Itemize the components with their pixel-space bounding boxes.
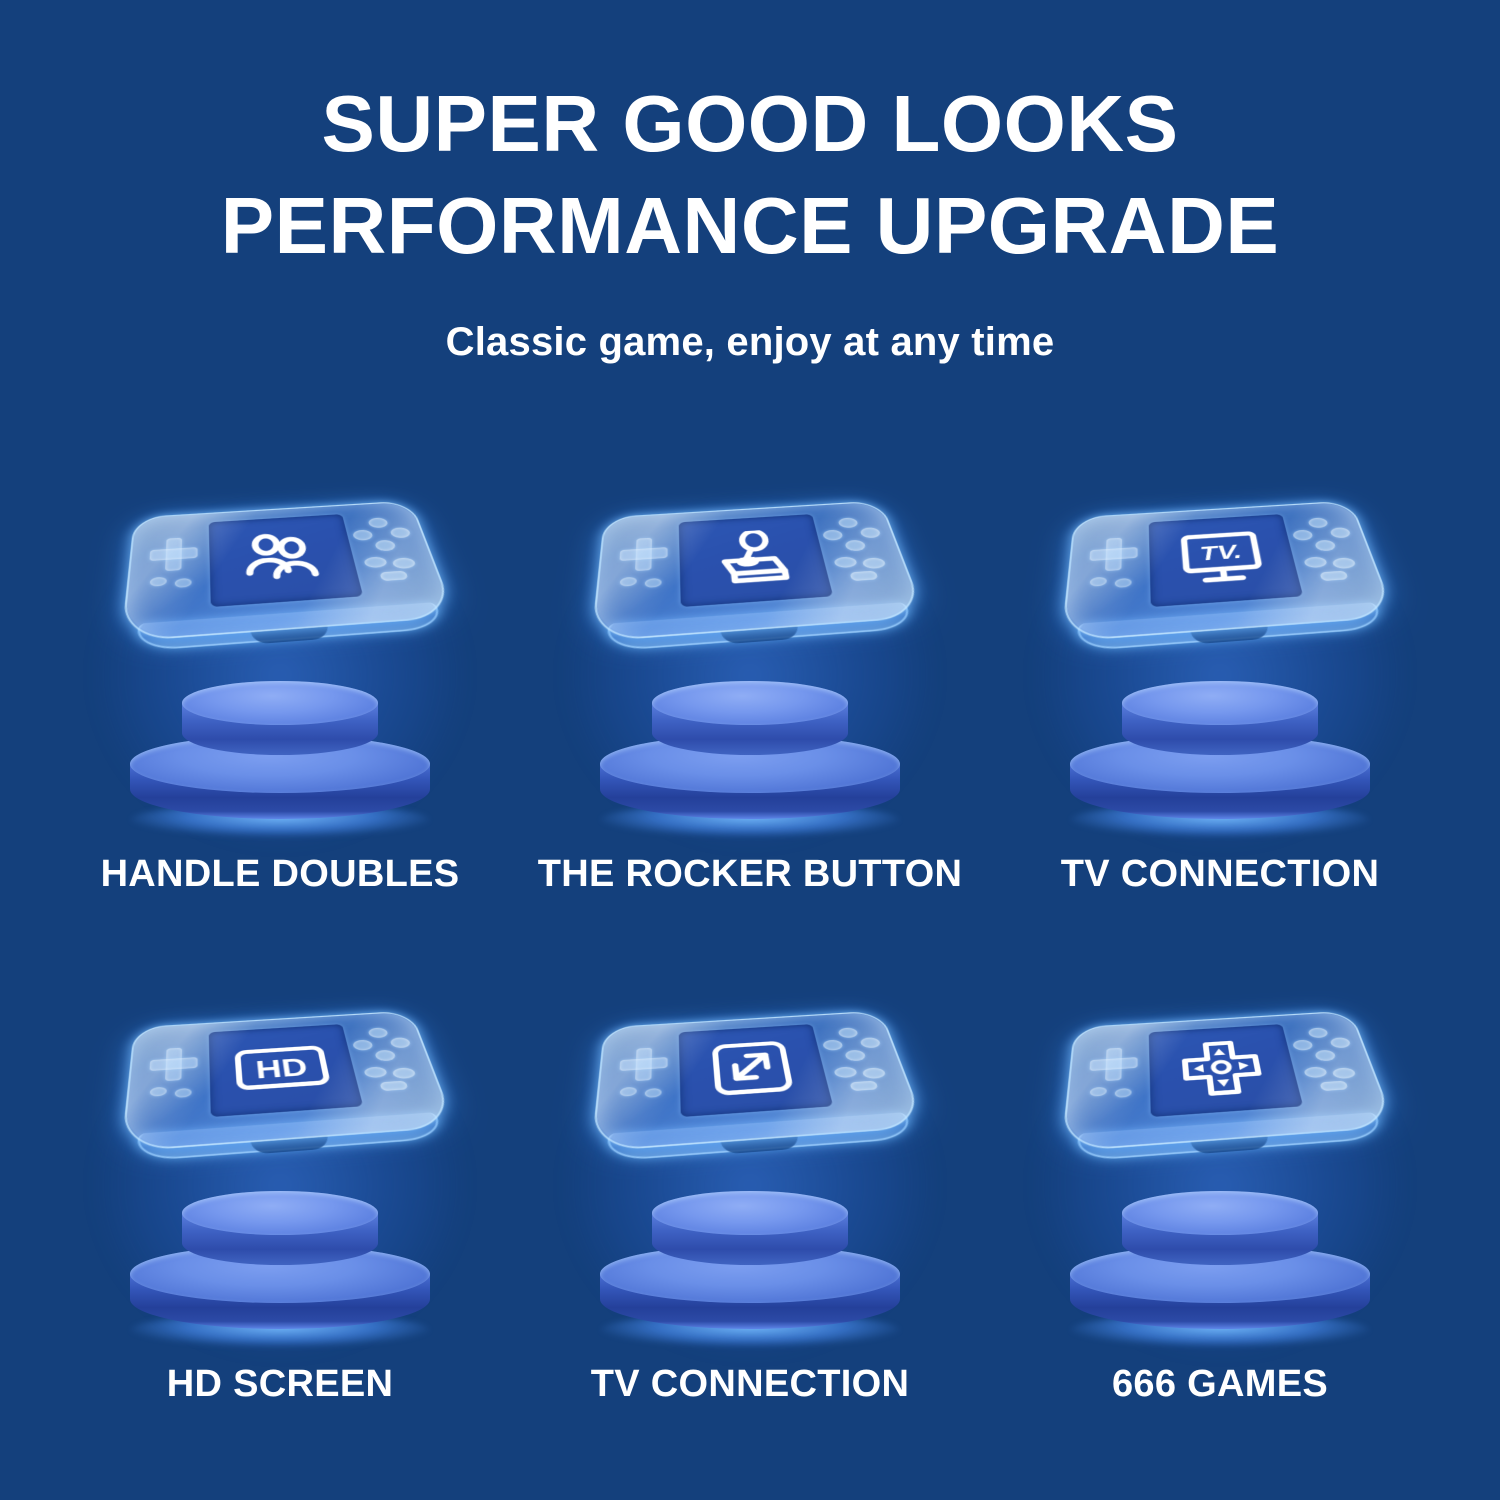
- device-stage: [580, 470, 920, 845]
- feature-item-tv-connection-bottom: TV CONNECTION: [515, 980, 985, 1490]
- feature-label: TV CONNECTION: [591, 1361, 909, 1407]
- action-button-b: [861, 557, 886, 569]
- device-stage: TV.: [1050, 470, 1390, 845]
- action-button-left: [1292, 1039, 1314, 1050]
- pedestal: [1070, 681, 1370, 831]
- handheld-console: HD: [121, 1011, 450, 1149]
- action-button-b: [391, 557, 416, 569]
- pedestal-riser-top: [652, 1191, 848, 1235]
- action-button-b: [1331, 557, 1356, 569]
- feature-label: THE ROCKER BUTTON: [538, 851, 963, 897]
- console-screen: HD: [209, 1024, 364, 1117]
- action-button-up: [367, 1027, 389, 1038]
- action-button-cluster: [1287, 515, 1369, 588]
- action-button-a: [833, 1066, 858, 1078]
- action-button-b: [861, 1067, 886, 1079]
- select-button: [620, 577, 637, 587]
- action-button-up: [367, 517, 389, 528]
- action-button-down: [1314, 1050, 1336, 1062]
- pedestal-riser: [1122, 1191, 1318, 1283]
- dpad-horizontal-bar: [149, 1057, 197, 1071]
- action-button-extra: [850, 571, 879, 581]
- action-button-cluster: [347, 1025, 429, 1098]
- action-button-extra: [850, 1081, 879, 1091]
- headline-line-1: SUPER GOOD LOOKS: [0, 0, 1500, 174]
- headline-line-2: PERFORMANCE UPGRADE: [0, 174, 1500, 276]
- action-button-extra: [380, 571, 409, 581]
- action-button-right: [389, 527, 411, 538]
- action-button-cluster: [817, 515, 899, 588]
- action-button-cluster: [1287, 1025, 1369, 1098]
- select-button: [1090, 1087, 1107, 1097]
- select-button: [1090, 577, 1107, 587]
- dpad-cluster: [1082, 1040, 1144, 1111]
- action-button-right: [859, 527, 881, 538]
- feature-label: HANDLE DOUBLES: [101, 851, 460, 897]
- action-button-down: [374, 540, 396, 552]
- action-button-a: [1303, 1066, 1328, 1078]
- poster-subtitle: Classic game, enjoy at any time: [0, 276, 1500, 366]
- action-button-cluster: [817, 1025, 899, 1098]
- device-stage: [1050, 980, 1390, 1355]
- action-button-up: [837, 1027, 859, 1038]
- pedestal-riser-top: [652, 681, 848, 725]
- feature-item-the-rocker-button: THE ROCKER BUTTON: [515, 470, 985, 980]
- handheld-console: TV.: [1061, 501, 1390, 639]
- dpad-cluster: [612, 530, 674, 601]
- action-button-extra: [1320, 571, 1349, 581]
- select-button: [620, 1087, 637, 1097]
- console-wrapper: [600, 478, 900, 668]
- pedestal-riser: [182, 1191, 378, 1283]
- pedestal-riser-top: [182, 1191, 378, 1235]
- pedestal-riser-top: [1122, 681, 1318, 725]
- feature-label: TV CONNECTION: [1061, 851, 1379, 897]
- action-button-a: [363, 556, 388, 568]
- action-button-a: [833, 556, 858, 568]
- handheld-console: [1061, 1011, 1390, 1149]
- action-button-down: [1314, 540, 1336, 552]
- action-button-left: [822, 529, 844, 540]
- action-button-left: [352, 1039, 374, 1050]
- dpad-cluster: [612, 1040, 674, 1111]
- pedestal-riser: [652, 1191, 848, 1283]
- pedestal-riser: [652, 681, 848, 773]
- action-button-a: [1303, 556, 1328, 568]
- svg-text:HD: HD: [254, 1054, 309, 1085]
- two-people-icon: [237, 530, 329, 586]
- start-button: [1115, 578, 1132, 588]
- handheld-console: [121, 501, 450, 639]
- joystick-icon: [711, 529, 796, 589]
- pedestal: [130, 1191, 430, 1341]
- poster-header: SUPER GOOD LOOKS PERFORMANCE UPGRADE Cla…: [0, 0, 1500, 366]
- pedestal: [1070, 1191, 1370, 1341]
- start-button: [645, 578, 662, 588]
- start-button: [1115, 1088, 1132, 1098]
- action-button-up: [1307, 517, 1329, 528]
- feature-grid: HANDLE DOUBLES: [0, 470, 1500, 1490]
- dpad-icon: [1176, 1037, 1271, 1100]
- dpad-horizontal-bar: [1089, 1057, 1137, 1071]
- handheld-console: [591, 501, 920, 639]
- action-button-b: [391, 1067, 416, 1079]
- pedestal-riser-top: [182, 681, 378, 725]
- select-button: [150, 1087, 167, 1097]
- action-button-a: [363, 1066, 388, 1078]
- action-button-left: [822, 1039, 844, 1050]
- action-button-down: [844, 1050, 866, 1062]
- dpad-cluster: [142, 1040, 204, 1111]
- action-button-left: [352, 529, 374, 540]
- console-wrapper: HD: [130, 988, 430, 1178]
- handheld-console: [591, 1011, 920, 1149]
- device-stage: HD: [110, 980, 450, 1355]
- console-wrapper: [600, 988, 900, 1178]
- device-stage: [580, 980, 920, 1355]
- feature-label: HD SCREEN: [167, 1361, 394, 1407]
- action-button-right: [1329, 1037, 1351, 1048]
- console-screen: [1149, 1024, 1304, 1117]
- console-screen: [679, 514, 834, 607]
- action-button-left: [1292, 529, 1314, 540]
- device-stage: [110, 470, 450, 845]
- pedestal: [600, 1191, 900, 1341]
- dpad-cluster: [142, 530, 204, 601]
- action-button-down: [374, 1050, 396, 1062]
- dpad-horizontal-bar: [149, 547, 197, 561]
- dpad-horizontal-bar: [619, 547, 667, 561]
- dpad-horizontal-bar: [619, 1057, 667, 1071]
- hd-badge-icon: HD: [232, 1044, 333, 1093]
- console-wrapper: [130, 478, 430, 668]
- pedestal: [600, 681, 900, 831]
- pedestal-riser-top: [1122, 1191, 1318, 1235]
- feature-label: 666 GAMES: [1112, 1361, 1328, 1407]
- pedestal: [130, 681, 430, 831]
- action-button-down: [844, 540, 866, 552]
- start-button: [175, 578, 192, 588]
- console-wrapper: [1070, 988, 1370, 1178]
- dpad-cluster: [1082, 530, 1144, 601]
- start-button: [645, 1088, 662, 1098]
- console-screen: TV.: [1149, 514, 1304, 607]
- feature-item-handle-doubles: HANDLE DOUBLES: [45, 470, 515, 980]
- feature-item-hd-screen: HD: [45, 980, 515, 1490]
- action-button-right: [389, 1037, 411, 1048]
- action-button-b: [1331, 1067, 1356, 1079]
- tv-monitor-icon: TV.: [1176, 529, 1271, 588]
- dpad-horizontal-bar: [1089, 547, 1137, 561]
- product-feature-poster: SUPER GOOD LOOKS PERFORMANCE UPGRADE Cla…: [0, 0, 1500, 1500]
- action-button-cluster: [347, 515, 429, 588]
- feature-row-bottom: HD: [0, 980, 1500, 1490]
- expand-arrows-icon: [709, 1039, 798, 1099]
- pedestal-riser: [182, 681, 378, 773]
- feature-item-tv-connection-top: TV.: [985, 470, 1455, 980]
- start-button: [175, 1088, 192, 1098]
- svg-text:TV.: TV.: [1199, 541, 1244, 566]
- action-button-up: [1307, 1027, 1329, 1038]
- feature-item-666-games: 666 GAMES: [985, 980, 1455, 1490]
- feature-row-top: HANDLE DOUBLES: [0, 470, 1500, 980]
- action-button-right: [859, 1037, 881, 1048]
- console-wrapper: TV.: [1070, 478, 1370, 668]
- action-button-extra: [380, 1081, 409, 1091]
- action-button-up: [837, 517, 859, 528]
- select-button: [150, 577, 167, 587]
- console-screen: [209, 514, 364, 607]
- action-button-extra: [1320, 1081, 1349, 1091]
- console-screen: [679, 1024, 834, 1117]
- action-button-right: [1329, 527, 1351, 538]
- pedestal-riser: [1122, 681, 1318, 773]
